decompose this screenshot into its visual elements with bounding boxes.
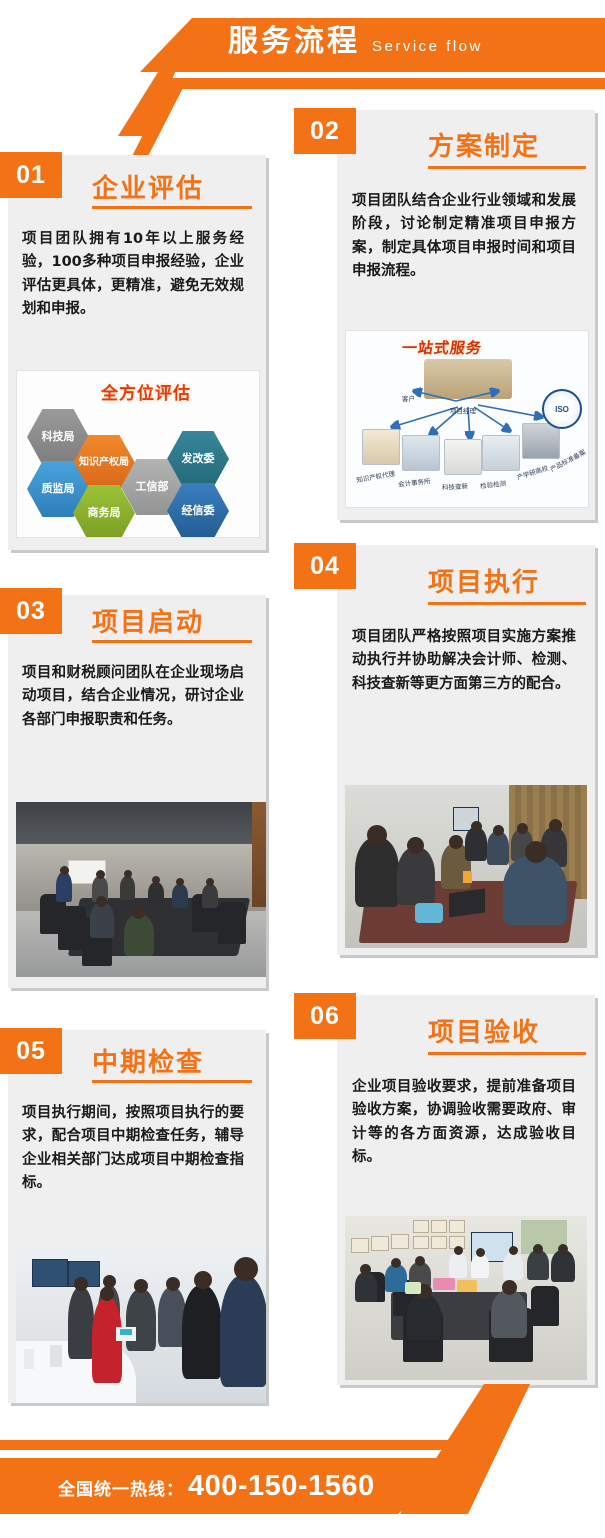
title-underline-02 [428, 166, 586, 169]
step-title-05: 中期检查 [92, 1042, 204, 1079]
hotline: 全国统一热线： 400-150-1560 [58, 1470, 375, 1503]
title-underline-05 [92, 1080, 252, 1083]
step-title-03: 项目启动 [92, 602, 204, 639]
title-underline-06 [428, 1052, 586, 1055]
step-badge-06: 06 [294, 993, 356, 1039]
hotline-number[interactable]: 400-150-1560 [188, 1470, 375, 1503]
service-node-accounting [402, 435, 440, 471]
step-badge-04: 04 [294, 543, 356, 589]
acceptance-meeting-photo [345, 1216, 587, 1380]
hotline-label: 全国统一热线： [58, 1475, 184, 1500]
page-title-en: Service flow [372, 38, 483, 55]
title-underline-01 [92, 206, 252, 209]
title-underline-04 [428, 602, 586, 605]
step-badge-02: 02 [294, 108, 356, 154]
service-node-testing [482, 435, 520, 471]
step-body-01: 项目团队拥有10年以上服务经验，100多种项目申报经验，企业评估更具体，更精准，… [22, 228, 244, 322]
step-body-03: 项目和财税顾问团队在企业现场启动项目，结合企业情况，研讨企业各部门申报职责和任务… [22, 662, 244, 732]
page-title: 服务流程 Service flow [228, 27, 483, 57]
site-visit-photo [16, 1243, 266, 1403]
hexagon-chart-title: 全方位评估 [101, 379, 191, 404]
step-body-06: 企业项目验收要求，提前准备项目验收方案，协调验收需要政府、审计等的各方面资源，达… [352, 1076, 576, 1170]
header-stripe [152, 78, 605, 89]
service-label-search: 科技查新 [442, 480, 468, 491]
footer-stripe [0, 1440, 470, 1450]
page-footer: 全国统一热线： 400-150-1560 [0, 1430, 605, 1538]
service-node-search [444, 439, 482, 475]
service-node-ip [362, 429, 400, 465]
working-session-photo [345, 785, 587, 948]
step-title-01: 企业评估 [92, 168, 204, 205]
step-title-02: 方案制定 [428, 126, 540, 163]
step-badge-05: 05 [0, 1028, 62, 1074]
step-badge-01: 01 [0, 152, 62, 198]
step-badge-03: 03 [0, 588, 62, 634]
step-body-04: 项目团队严格按照项目实施方案推动执行并协助解决会计师、检测、科技查新等更方面第三… [352, 626, 576, 696]
step-body-02: 项目团队结合企业行业领域和发展阶段，讨论制定精准项目申报方案，制定具体项目申报时… [352, 190, 576, 284]
service-iso-badge: ISO [542, 389, 582, 429]
title-underline-03 [92, 640, 252, 643]
service-node-university [522, 423, 560, 459]
step-title-04: 项目执行 [428, 562, 540, 599]
page-header: 服务流程 Service flow [0, 0, 605, 104]
page-title-cn: 服务流程 [228, 27, 360, 57]
step-title-06: 项目验收 [428, 1012, 540, 1049]
service-label-customer: 客户 [402, 393, 415, 403]
service-label-manager: 项目经理 [450, 405, 476, 415]
hexagon-assessment-chart: 全方位评估 科技局 知识产权局 发改委 质监局 工信部 商务局 经信委 [16, 370, 260, 538]
step-body-05: 项目执行期间，按照项目执行的要求，配合项目中期检查任务，辅导企业相关部门达成项目… [22, 1102, 244, 1196]
one-stop-service-diagram: 一站式服务 客户 项目经理 ISO 知识产权代理 会计事务所 科技查新 [345, 330, 589, 508]
infographic-page: 服务流程 Service flow 01 企业评估 项目团队拥有10年以上服务经… [0, 0, 605, 1538]
meeting-room-photo [16, 802, 266, 977]
